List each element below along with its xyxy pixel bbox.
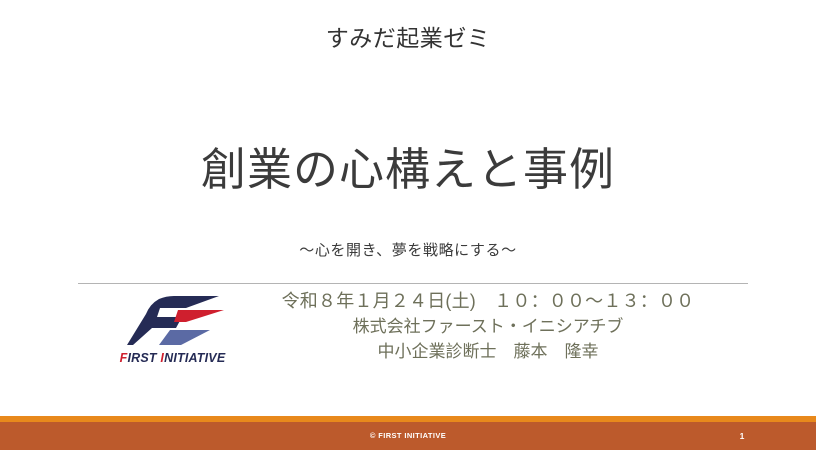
logo-wordmark-nitiative: NITIATIVE xyxy=(164,351,225,365)
logo-wordmark-irst: IRST xyxy=(127,351,160,365)
company-logo: FIRST INITIATIVE xyxy=(100,295,245,380)
presenter-block: FIRST INITIATIVE 令和８年１月２４日(土) １０：００〜１３：０… xyxy=(78,289,748,384)
presentation-slide: すみだ起業ゼミ 創業の心構えと事例 〜心を開き、夢を戦略にする〜 FIRST I… xyxy=(0,0,816,450)
presenter-company: 株式会社ファースト・イニシアチブ xyxy=(228,314,748,339)
slide-main-title: 創業の心構えと事例 xyxy=(0,140,816,200)
presenter-person: 中小企業診断士 藤本 隆幸 xyxy=(228,339,748,364)
presenter-text-lines: 令和８年１月２４日(土) １０：００〜１３：００ 株式会社ファースト・イニシアチ… xyxy=(228,289,748,364)
company-logo-wordmark: FIRST INITIATIVE xyxy=(100,351,245,365)
slide-eyebrow-title: すみだ起業ゼミ xyxy=(0,22,816,54)
presenter-date-time: 令和８年１月２４日(土) １０：００〜１３：００ xyxy=(228,289,748,314)
footer-page-number: 1 xyxy=(668,422,816,450)
first-initiative-f-mark-icon xyxy=(126,295,226,347)
horizontal-divider xyxy=(78,283,748,284)
footer-bar: © FIRST INITIATIVE 1 xyxy=(0,422,816,450)
slide-subtitle: 〜心を開き、夢を戦略にする〜 xyxy=(0,240,816,262)
